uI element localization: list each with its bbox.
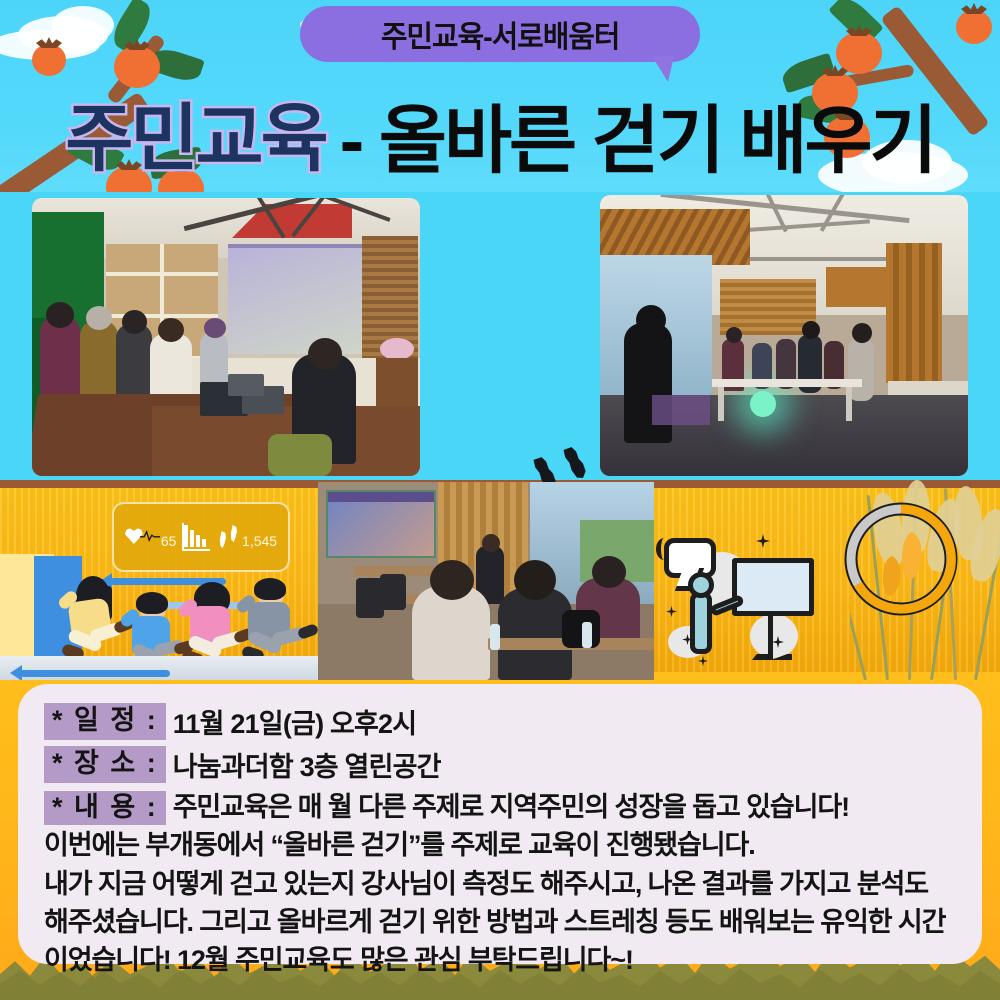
heart-rate-stat: 65 (125, 525, 177, 549)
content-label: * 내 용 : (44, 791, 166, 825)
content-line-4: 해주셨습니다. 그리고 올바르게 걷기 위한 방법과 스트레칭 등도 배워보는 … (44, 907, 945, 937)
category-badge-label: 주민교육-서로배움터 (381, 12, 619, 56)
steps-value: 1,545 (242, 533, 277, 549)
fitness-stats-widget: 65 1,545 (112, 502, 290, 572)
info-row-schedule: * 일 정 : 11월 21일(금) 오후2시 (44, 702, 956, 741)
presenter-whiteboard-icon (660, 530, 830, 670)
footsteps-icon (218, 525, 240, 549)
location-value: 나눔과더함 3층 열린공간 (173, 745, 441, 784)
info-row-location: * 장 소 : 나눔과더함 3층 열린공간 (44, 745, 956, 784)
hall-gathering-photo (600, 195, 968, 476)
whiteboard-icon (732, 558, 814, 616)
category-badge: 주민교육-서로배움터 (300, 6, 700, 62)
content-first-line: 주민교육은 매 월 다른 주제로 지역주민의 성장을 돕고 있습니다! (173, 792, 849, 822)
page-title: 주민교육 - 올바른 걷기 배우기 (0, 88, 1000, 180)
footprint-progress-ring-icon (840, 498, 962, 620)
info-card: * 일 정 : 11월 21일(금) 오후2시 * 장 소 : 나눔과더함 3층… (18, 684, 982, 964)
sparkle-icon (666, 606, 677, 617)
heart-pulse-icon (125, 525, 159, 549)
title-secondary: - 올바른 걷기 배우기 (340, 81, 935, 188)
sparkle-icon (756, 534, 770, 548)
title-primary: 주민교육 (65, 79, 325, 186)
activity-chart-stat (182, 523, 212, 551)
schedule-value: 11월 21일(금) 오후2시 (173, 702, 417, 741)
location-label: * 장 소 : (44, 746, 166, 783)
classroom-lecture-photo (32, 198, 420, 476)
heart-rate-value: 65 (161, 533, 177, 549)
photo-row (0, 190, 1000, 482)
content-paragraph: * 내 용 :주민교육은 매 월 다른 주제로 지역주민의 성장을 돕고 있습니… (44, 788, 956, 980)
schedule-label: * 일 정 : (44, 703, 166, 740)
content-line-3: 내가 지금 어떻게 걷고 있는지 강사님이 측정도 해주시고, 나온 결과를 가… (44, 869, 928, 899)
sparkle-icon (698, 656, 708, 666)
content-line-5: 이었습니다! 12월 주민교육도 많은 관심 부탁드립니다~! (44, 945, 633, 975)
content-line-2: 이번에는 부개동에서 “올바른 걷기”를 주제로 교육이 진행됐습니다. (44, 830, 755, 860)
seminar-audience-photo (318, 482, 654, 680)
bar-chart-icon (182, 523, 212, 551)
steps-stat: 1,545 (218, 525, 277, 549)
